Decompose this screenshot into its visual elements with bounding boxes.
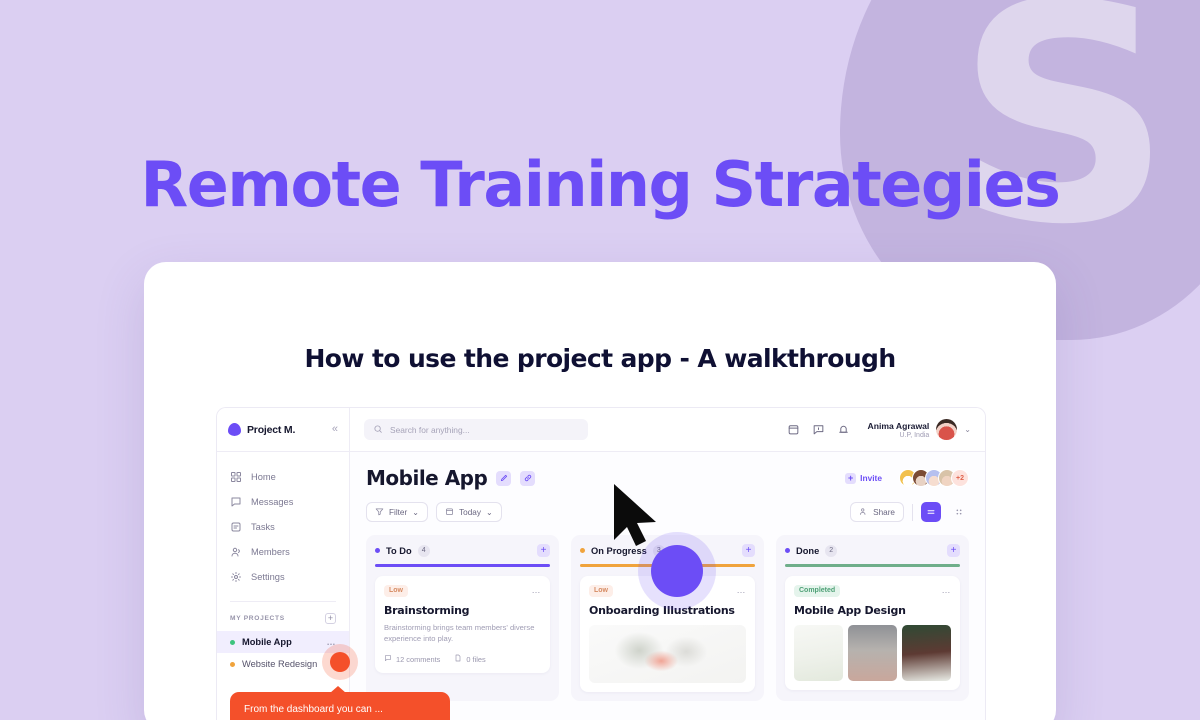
brand-name: Project M. <box>247 424 326 436</box>
column-header: Done 2 + <box>785 544 960 557</box>
card-menu-icon[interactable]: … <box>532 585 542 595</box>
plus-icon[interactable]: + <box>325 613 336 624</box>
card-menu-icon[interactable]: … <box>737 585 747 595</box>
message-icon <box>230 496 242 508</box>
comment-icon <box>384 654 392 664</box>
status-badge: Completed <box>794 585 840 597</box>
card-footer: 12 comments 0 files <box>384 654 541 664</box>
sidebar-item-label: Settings <box>251 572 285 582</box>
chevrons-left-icon[interactable]: « <box>332 424 338 435</box>
priority-badge: Low <box>589 585 613 597</box>
column-accent-bar <box>785 564 960 567</box>
column-dot <box>580 548 585 553</box>
status-dot <box>230 640 235 645</box>
thumbnail <box>848 625 897 681</box>
column-count: 4 <box>418 545 430 557</box>
grid-icon <box>230 471 242 483</box>
card-title: Mobile App Design <box>794 604 951 617</box>
tooltip: From the dashboard you can ... <box>230 692 450 720</box>
calendar-icon[interactable] <box>787 423 800 436</box>
column-to-do: To Do 4 + Low … Brainstorming <box>366 535 559 701</box>
card-thumbnail <box>589 625 746 683</box>
search-placeholder: Search for anything... <box>390 425 470 435</box>
members-icon <box>230 546 242 558</box>
chevron-down-icon: ⌄ <box>412 507 419 517</box>
toolbar-divider <box>912 504 913 521</box>
sidebar-item-messages[interactable]: Messages <box>217 489 349 514</box>
invite-button[interactable]: + Invite <box>845 473 882 484</box>
plus-icon[interactable]: + <box>742 544 755 557</box>
date-button[interactable]: Today ⌄ <box>436 502 502 522</box>
projects-header-label: MY PROJECTS <box>230 615 325 622</box>
card-description: Brainstorming brings team members' diver… <box>384 622 541 645</box>
click-indicator <box>651 545 703 597</box>
page-subtitle: How to use the project app - A walkthrou… <box>144 344 1056 373</box>
sidebar-header: Project M. « <box>217 408 349 452</box>
sidebar-item-settings[interactable]: Settings <box>217 564 349 589</box>
chevron-down-icon[interactable]: ⌄ <box>964 425 971 434</box>
bell-icon[interactable] <box>837 423 850 436</box>
file-icon <box>454 654 462 664</box>
thumbnail <box>902 625 951 681</box>
task-card[interactable]: Completed … Mobile App Design <box>785 576 960 690</box>
plus-icon[interactable]: + <box>947 544 960 557</box>
link-icon[interactable] <box>520 471 535 486</box>
files-label: 0 files <box>466 655 485 664</box>
share-label: Share <box>873 508 895 517</box>
brand-logo-icon <box>228 423 241 436</box>
sidebar-item-home[interactable]: Home <box>217 464 349 489</box>
sidebar-nav: Home Messages Tasks Members Settings <box>217 452 349 595</box>
watermark-letter: S <box>956 0 1172 266</box>
plus-icon[interactable]: + <box>537 544 550 557</box>
column-name: Done <box>796 546 819 556</box>
device-card: How to use the project app - A walkthrou… <box>144 262 1056 720</box>
column-dot <box>375 548 380 553</box>
funnel-icon <box>375 507 384 518</box>
list-view-icon[interactable] <box>921 502 941 522</box>
search-input[interactable]: Search for anything... <box>364 419 588 440</box>
calendar-icon <box>445 507 454 518</box>
sidebar-item-label: Messages <box>251 497 293 507</box>
column-dot <box>785 548 790 553</box>
help-icon[interactable] <box>812 423 825 436</box>
column-count: 2 <box>825 545 837 557</box>
date-label: Today <box>459 508 481 517</box>
grid-view-icon[interactable] <box>949 502 969 522</box>
pencil-icon[interactable] <box>496 471 511 486</box>
card-top: Completed … <box>794 585 951 597</box>
share-icon <box>859 507 868 518</box>
search-icon <box>373 424 383 436</box>
user-location: U.P, India <box>868 432 930 439</box>
user-text: Anima Agrawal U.P, India <box>868 421 930 439</box>
comments-label: 12 comments <box>396 655 440 664</box>
task-card[interactable]: Low … Brainstorming Brainstorming brings… <box>375 576 550 674</box>
column-done: Done 2 + Completed … Mobile App Design <box>776 535 969 701</box>
card-thumbnails <box>794 625 951 681</box>
page-title: Remote Training Strategies <box>0 148 1200 221</box>
avatar-overflow[interactable]: +2 <box>951 469 969 487</box>
sidebar-item-tasks[interactable]: Tasks <box>217 514 349 539</box>
sidebar-item-label: Members <box>251 547 290 557</box>
share-button[interactable]: Share <box>850 502 904 522</box>
card-menu-icon[interactable]: … <box>942 585 952 595</box>
column-accent-bar <box>375 564 550 567</box>
sidebar-item-label: Tasks <box>251 522 275 532</box>
plus-icon: + <box>845 473 856 484</box>
gear-icon <box>230 571 242 583</box>
user-menu[interactable]: Anima Agrawal U.P, India ⌄ <box>868 419 971 440</box>
sidebar-item-label: Home <box>251 472 276 482</box>
column-header: To Do 4 + <box>375 544 550 557</box>
column-name: To Do <box>386 546 412 556</box>
projects-header: MY PROJECTS + <box>217 602 349 631</box>
card-comments: 12 comments <box>384 654 440 664</box>
topbar: Search for anything... Anima Agrawal U.P… <box>350 408 985 452</box>
tooltip-text: From the dashboard you can ... <box>244 704 383 715</box>
tasks-icon <box>230 521 242 533</box>
hotspot-dot <box>330 652 350 672</box>
status-dot <box>230 662 235 667</box>
thumbnail <box>794 625 843 681</box>
filter-label: Filter <box>389 508 407 517</box>
project-label: Mobile App <box>242 637 320 647</box>
invite-label: Invite <box>860 473 882 483</box>
priority-badge: Low <box>384 585 408 597</box>
user-name: Anima Agrawal <box>868 421 930 431</box>
project-title: Mobile App <box>366 466 487 490</box>
sidebar-item-members[interactable]: Members <box>217 539 349 564</box>
card-top: Low … <box>384 585 541 597</box>
chevron-down-icon: ⌄ <box>486 507 493 517</box>
arrow-cursor-icon <box>610 482 674 552</box>
card-title: Brainstorming <box>384 604 541 617</box>
card-files: 0 files <box>454 654 485 664</box>
avatar[interactable] <box>936 419 957 440</box>
member-avatars[interactable]: +2 <box>899 469 969 487</box>
filter-button[interactable]: Filter ⌄ <box>366 502 428 522</box>
